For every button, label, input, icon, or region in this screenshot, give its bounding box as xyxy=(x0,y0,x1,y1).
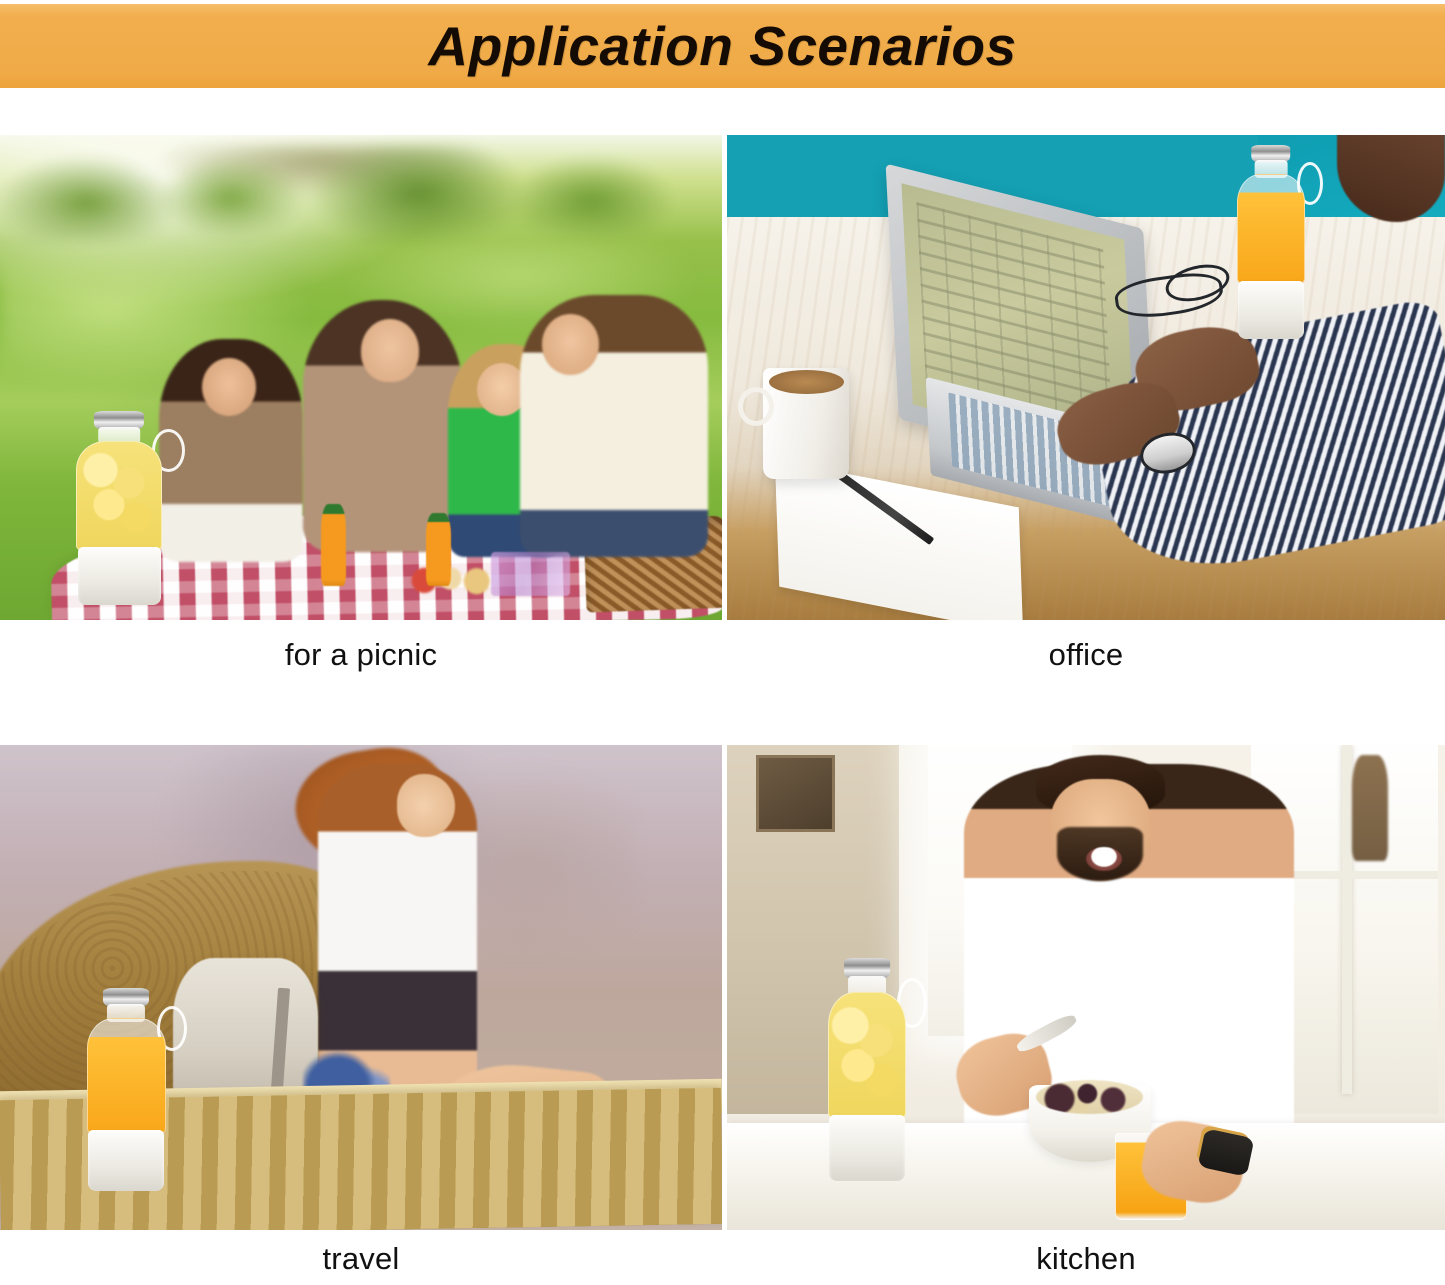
scenario-grid: for a picnic xyxy=(0,135,1445,1285)
bottle-motor-base xyxy=(1238,281,1303,339)
picnic-caption-band: for a picnic xyxy=(0,620,722,745)
bottle-jar-mango xyxy=(76,441,163,552)
bottle-jar-juice xyxy=(87,1018,166,1134)
scenario-caption-kitchen: kitchen xyxy=(1036,1242,1136,1276)
background-bottle xyxy=(1352,755,1388,862)
window-mullion-vertical xyxy=(1342,745,1352,1094)
portable-blender-bottle xyxy=(1237,145,1305,339)
bottle-motor-base xyxy=(829,1115,905,1182)
application-scenarios-page: Application Scenarios xyxy=(0,0,1445,1285)
scenario-caption-office: office xyxy=(1049,638,1124,672)
travel-caption-band: travel xyxy=(0,1230,722,1285)
page-title: Application Scenarios xyxy=(428,19,1016,74)
portable-blender-bottle xyxy=(76,411,163,605)
picnic-photo xyxy=(0,135,722,620)
man-smile xyxy=(1086,847,1122,871)
bottle-motor-base xyxy=(78,547,161,605)
woman-face xyxy=(397,774,455,837)
wall-picture-frame xyxy=(756,755,835,833)
plastic-cups xyxy=(491,552,570,596)
scenario-card-office[interactable]: office xyxy=(727,135,1445,745)
portable-blender-bottle xyxy=(87,988,166,1192)
bottle-jar-juice xyxy=(1237,174,1305,285)
scenario-card-picnic[interactable]: for a picnic xyxy=(0,135,722,745)
juice-bottle-1 xyxy=(321,504,346,586)
office-caption-band: office xyxy=(727,620,1445,745)
mother-face xyxy=(361,319,419,382)
scenario-card-travel[interactable]: travel xyxy=(0,745,722,1285)
kitchen-caption-band: kitchen xyxy=(727,1230,1445,1285)
cereal-with-berries xyxy=(1036,1080,1144,1114)
scenario-row-top: for a picnic xyxy=(0,135,1445,745)
travel-photo xyxy=(0,745,722,1230)
scenario-caption-picnic: for a picnic xyxy=(285,638,437,672)
scenario-caption-travel: travel xyxy=(322,1242,399,1276)
scenario-row-bottom: travel xyxy=(0,745,1445,1285)
portable-blender-bottle xyxy=(828,958,907,1181)
kitchen-photo xyxy=(727,745,1445,1230)
bottle-motor-base xyxy=(88,1130,164,1191)
header-banner: Application Scenarios xyxy=(0,4,1445,88)
bottle-jar-mango xyxy=(828,992,907,1119)
father-face xyxy=(542,314,600,375)
scenario-card-kitchen[interactable]: kitchen xyxy=(727,745,1445,1285)
juice-bottle-2 xyxy=(426,513,451,586)
office-photo xyxy=(727,135,1445,620)
